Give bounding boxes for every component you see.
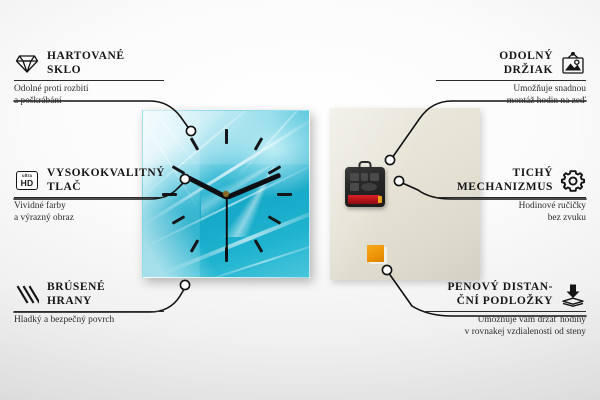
clock-movement bbox=[345, 167, 385, 207]
feature-divider bbox=[424, 311, 586, 312]
feature-quiet-mechanism: TICHÝ MECHANIZMUS Hodinové ručičky bez z… bbox=[436, 167, 586, 224]
feature-subtitle: Umožňuje vám držať hodiny v rovnakej vzd… bbox=[424, 315, 586, 338]
feature-divider bbox=[14, 197, 164, 198]
ultra-hd-badge-icon: ultra HD bbox=[14, 169, 40, 193]
feature-subtitle: Odolné proti rozbití a poškrábání bbox=[14, 84, 164, 107]
press-down-layers-icon bbox=[560, 283, 586, 307]
movement-detail bbox=[370, 173, 379, 181]
movement-detail bbox=[350, 183, 359, 191]
movement-detail bbox=[361, 173, 368, 181]
feature-divider bbox=[14, 80, 164, 81]
feature-header: ultra HD VYSOKOKVALITNÝ TLAČ bbox=[14, 167, 164, 194]
feature-title: HARTOVANÉ SKLO bbox=[47, 50, 125, 77]
feature-subtitle: Hodinové ručičky bez zvuku bbox=[436, 201, 586, 224]
clock-tick-12 bbox=[225, 129, 228, 144]
feature-foam-spacers: PENOVÝ DISTAN- ČNÍ PODLOŽKY Umožňuje vám… bbox=[424, 281, 586, 338]
feature-header: ODOLNÝ DRŽIAK bbox=[436, 50, 586, 77]
second-hand bbox=[226, 196, 228, 258]
feature-high-quality-print: ultra HD VYSOKOKVALITNÝ TLAČ Vividné far… bbox=[14, 167, 164, 224]
feature-title: TICHÝ MECHANIZMUS bbox=[457, 167, 553, 194]
feature-subtitle: Hladký a bezpečný povrch bbox=[14, 315, 164, 327]
feature-header: HARTOVANÉ SKLO bbox=[14, 50, 164, 77]
feature-tempered-glass: HARTOVANÉ SKLO Odolné proti rozbití a po… bbox=[14, 50, 164, 107]
feature-title: BRÚSENÉ HRANY bbox=[47, 281, 105, 308]
feature-divider bbox=[436, 197, 586, 198]
hanging-frame-icon bbox=[560, 52, 586, 76]
movement-detail bbox=[350, 173, 359, 181]
feature-header: BRÚSENÉ HRANY bbox=[14, 281, 164, 308]
movement-detail bbox=[361, 183, 377, 191]
feature-divider bbox=[14, 311, 164, 312]
feature-durable-holder: ODOLNÝ DRŽIAK Umožňuje snadnou montáž ho… bbox=[436, 50, 586, 107]
feature-title: PENOVÝ DISTAN- ČNÍ PODLOŽKY bbox=[447, 281, 553, 308]
feature-header: TICHÝ MECHANIZMUS bbox=[436, 167, 586, 194]
feature-title: VYSOKOKVALITNÝ TLAČ bbox=[47, 167, 165, 194]
clock-tick-3 bbox=[277, 193, 292, 196]
clock-hub bbox=[223, 191, 229, 197]
feature-polished-edges: BRÚSENÉ HRANY Hladký a bezpečný povrch bbox=[14, 281, 164, 327]
feature-header: PENOVÝ DISTAN- ČNÍ PODLOŽKY bbox=[424, 281, 586, 308]
movement-shaft bbox=[359, 161, 372, 169]
diagonal-lines-icon bbox=[14, 283, 40, 307]
feature-divider bbox=[436, 80, 586, 81]
gear-icon bbox=[560, 169, 586, 193]
wall-clock-product bbox=[142, 110, 310, 278]
hd-badge-main: HD bbox=[21, 179, 34, 188]
feature-title: ODOLNÝ DRŽIAK bbox=[499, 50, 553, 77]
feature-subtitle: Vividné farby a výrazný obraz bbox=[14, 201, 164, 224]
diamond-icon bbox=[14, 52, 40, 76]
foam-spacer-pad bbox=[367, 245, 384, 262]
battery bbox=[348, 195, 380, 204]
feature-subtitle: Umožňuje snadnou montáž hodin na zeď bbox=[436, 84, 586, 107]
